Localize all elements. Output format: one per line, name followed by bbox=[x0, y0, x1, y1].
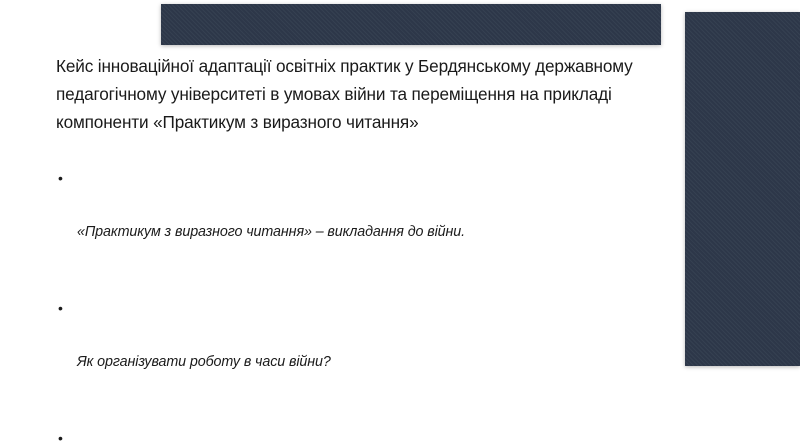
list-item: • Колективна читка як бібліотерапія. bbox=[56, 425, 716, 448]
bullet-marker-icon: • bbox=[58, 295, 63, 322]
bullet-list: • «Практикум з виразного читання» – викл… bbox=[56, 165, 716, 448]
presentation-slide: Кейс інноваційної адаптації освітніх пра… bbox=[0, 0, 800, 448]
bullet-marker-icon: • bbox=[58, 165, 63, 192]
slide-title: Кейс інноваційної адаптації освітніх пра… bbox=[56, 52, 694, 136]
list-item: • Як організувати роботу в часи війни? bbox=[56, 295, 716, 403]
bullet-marker-icon: • bbox=[58, 425, 63, 448]
list-item: • «Практикум з виразного читання» – викл… bbox=[56, 165, 716, 273]
top-accent-bar bbox=[161, 4, 661, 45]
list-item-text: «Практикум з виразного читання» – виклад… bbox=[77, 219, 716, 246]
list-item-text: Як організувати роботу в часи війни? bbox=[77, 349, 716, 376]
